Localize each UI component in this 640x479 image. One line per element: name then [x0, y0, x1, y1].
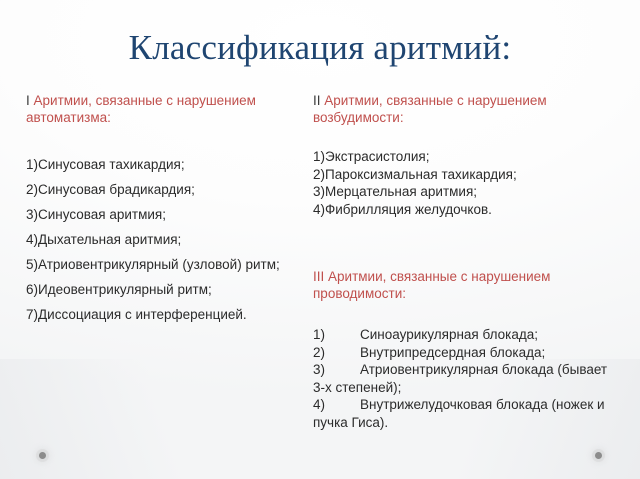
list-item: 3)Мерцательная аритмия; — [313, 183, 618, 201]
list-item: 5)Атриовентрикулярный (узловой) ритм; — [26, 252, 301, 277]
list-item-number: 4) — [313, 396, 360, 414]
section-three-list: 1)Синоаурикулярная блокада; 2)Внутрипред… — [313, 326, 618, 431]
list-item: 4)Фибрилляция желудочков. — [313, 201, 618, 219]
section-three-heading: III Аритмии, связанные с нарушением пров… — [313, 268, 618, 302]
list-item: 2)Синусовая брадикардия; — [26, 177, 301, 202]
spacer-after-section-two-heading — [313, 126, 618, 148]
list-item: 1)Синоаурикулярная блокада; — [313, 326, 618, 344]
list-item-number: 1) — [313, 326, 360, 344]
spacer-after-section-three-heading — [313, 302, 618, 326]
list-item-number: 2) — [313, 344, 360, 362]
section-two-heading: II Аритмии, связанные с нарушением возбу… — [313, 92, 618, 126]
section-two-heading-text: Аритмии, связанные с нарушением возбудим… — [313, 93, 547, 125]
spacer-after-section-one-heading — [26, 126, 301, 152]
spacer-between-sections — [313, 218, 618, 268]
decorative-dot-right-icon — [595, 452, 602, 459]
list-item: 3)Атриовентрикулярная блокада (бывает 3-… — [313, 361, 618, 396]
list-item: 4)Внутрижелудочковая блокада (ножек и пу… — [313, 396, 618, 431]
section-one-heading: I Аритмии, связанные с нарушением автома… — [26, 92, 301, 126]
list-item-text: Внутрипредсердная блокада; — [360, 345, 545, 360]
list-item: 1)Синусовая тахикардия; — [26, 152, 301, 177]
list-item: 1)Экстрасистолия; — [313, 148, 618, 166]
section-two-numeral: II — [313, 93, 321, 108]
column-right: II Аритмии, связанные с нарушением возбу… — [313, 92, 618, 431]
list-item: 3)Синусовая аритмия; — [26, 202, 301, 227]
list-item: 6)Идеовентрикулярный ритм; — [26, 277, 301, 302]
decorative-dot-left-icon — [39, 452, 46, 459]
list-item-number: 3) — [313, 361, 360, 379]
section-two-list: 1)Экстрасистолия; 2)Пароксизмальная тахи… — [313, 148, 618, 218]
slide-title: Классификация аритмий: — [0, 26, 640, 70]
section-three-heading-text: Аритмии, связанные с нарушением проводим… — [313, 269, 550, 301]
list-item: 7)Диссоциация с интерференцией. — [26, 302, 301, 327]
list-item-text: Синоаурикулярная блокада; — [360, 327, 538, 342]
slide-canvas: Классификация аритмий: I Аритмии, связан… — [0, 0, 640, 479]
column-left: I Аритмии, связанные с нарушением автома… — [26, 92, 301, 327]
content-columns: I Аритмии, связанные с нарушением автома… — [0, 92, 640, 422]
list-item: 2)Внутрипредсердная блокада; — [313, 344, 618, 362]
list-item: 2)Пароксизмальная тахикардия; — [313, 166, 618, 184]
section-three-numeral: III — [313, 269, 324, 284]
list-item: 4)Дыхательная аритмия; — [26, 227, 301, 252]
section-one-list: 1)Синусовая тахикардия; 2)Синусовая брад… — [26, 152, 301, 327]
section-one-heading-text: Аритмии, связанные с нарушением автомати… — [26, 93, 256, 125]
